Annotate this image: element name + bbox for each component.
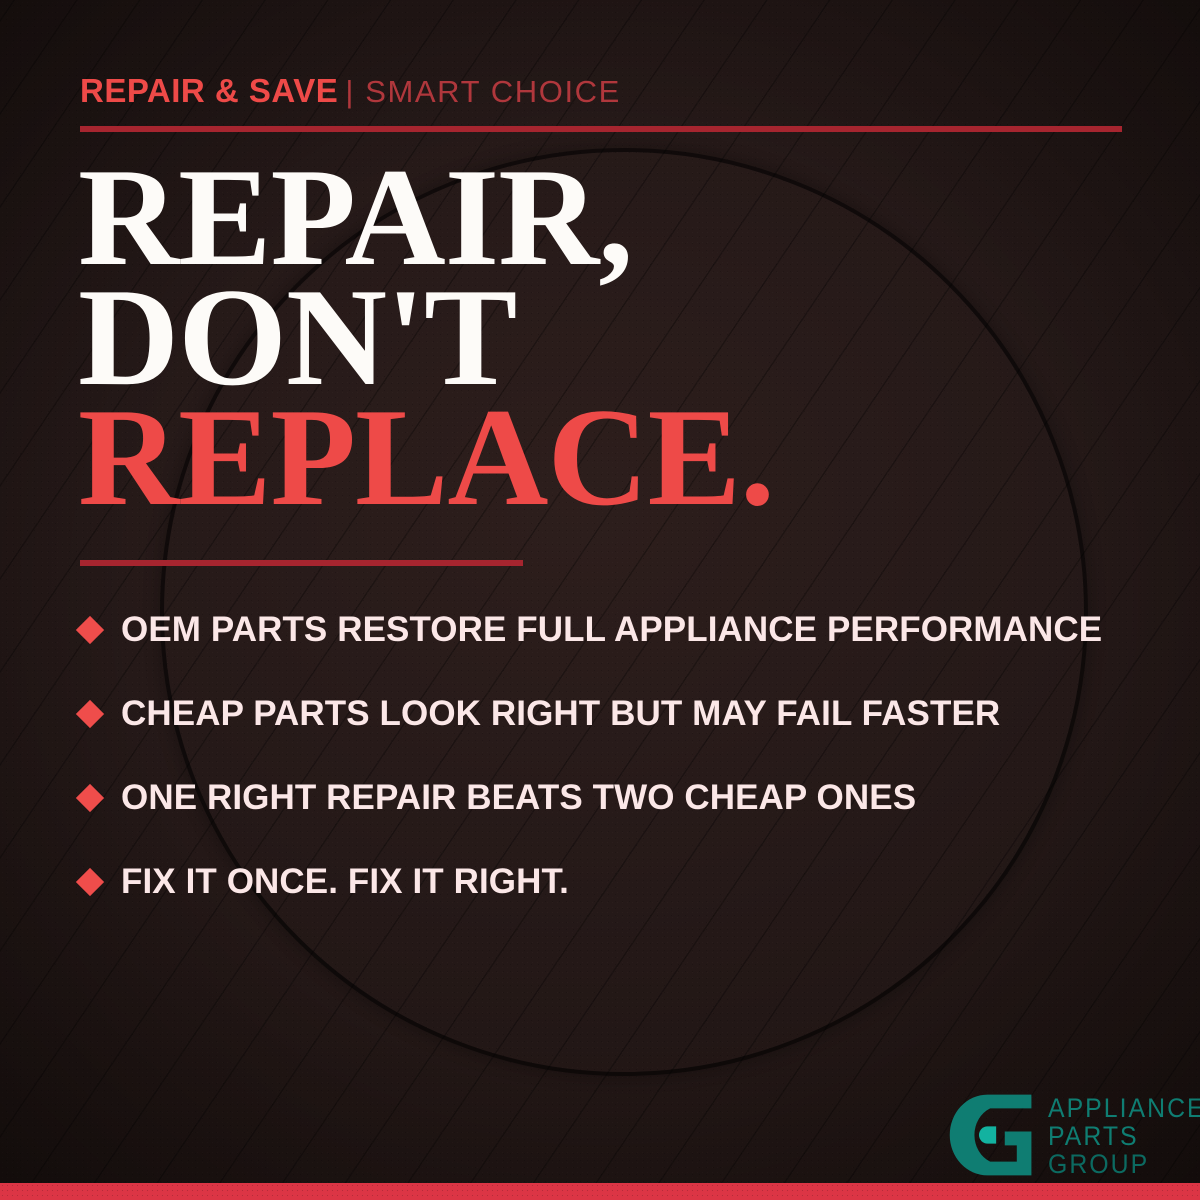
list-item-label: CHEAP PARTS LOOK RIGHT BUT MAY FAIL FAST…	[121, 694, 1000, 734]
bottom-accent-bar	[0, 1183, 1200, 1200]
list-item: CHEAP PARTS LOOK RIGHT BUT MAY FAIL FAST…	[80, 672, 1150, 756]
poster-content: REPAIR & SAVE| SMART CHOICE REPAIR, DON'…	[0, 0, 1200, 1200]
diamond-bullet-icon	[76, 616, 104, 644]
list-item-label: ONE RIGHT REPAIR BEATS TWO CHEAP ONES	[121, 778, 916, 818]
headline-line-3: REPLACE.	[78, 398, 774, 518]
list-item: OEM PARTS RESTORE FULL APPLIANCE PERFORM…	[80, 588, 1150, 672]
diamond-bullet-icon	[76, 700, 104, 728]
list-item-label: OEM PARTS RESTORE FULL APPLIANCE PERFORM…	[121, 610, 1102, 650]
headline-divider-rule	[80, 560, 523, 566]
g-letter-mark-icon	[948, 1092, 1034, 1178]
bottom-accent-bar-texture	[0, 1183, 1200, 1200]
diamond-bullet-icon	[76, 868, 104, 896]
eyebrow: REPAIR & SAVE| SMART CHOICE	[80, 74, 621, 107]
headline: REPAIR, DON'T REPLACE.	[78, 158, 774, 518]
eyebrow-main-text: REPAIR & SAVE	[80, 72, 338, 109]
brand-wordmark: APPLIANCE PARTS GROUP	[1048, 1094, 1200, 1178]
brand-word-group: GROUP	[1048, 1150, 1200, 1178]
top-divider-rule	[80, 126, 1122, 132]
brand-logo: APPLIANCE PARTS GROUP	[948, 1092, 1200, 1178]
brand-word-parts: PARTS	[1048, 1122, 1200, 1150]
eyebrow-sub-text: | SMART CHOICE	[345, 74, 621, 109]
list-item-label: FIX IT ONCE. FIX IT RIGHT.	[121, 862, 569, 902]
poster-canvas: REPAIR & SAVE| SMART CHOICE REPAIR, DON'…	[0, 0, 1200, 1200]
list-item: FIX IT ONCE. FIX IT RIGHT.	[80, 840, 1150, 924]
brand-word-appliance: APPLIANCE	[1048, 1094, 1200, 1122]
list-item: ONE RIGHT REPAIR BEATS TWO CHEAP ONES	[80, 756, 1150, 840]
benefits-list: OEM PARTS RESTORE FULL APPLIANCE PERFORM…	[80, 588, 1150, 924]
diamond-bullet-icon	[76, 784, 104, 812]
